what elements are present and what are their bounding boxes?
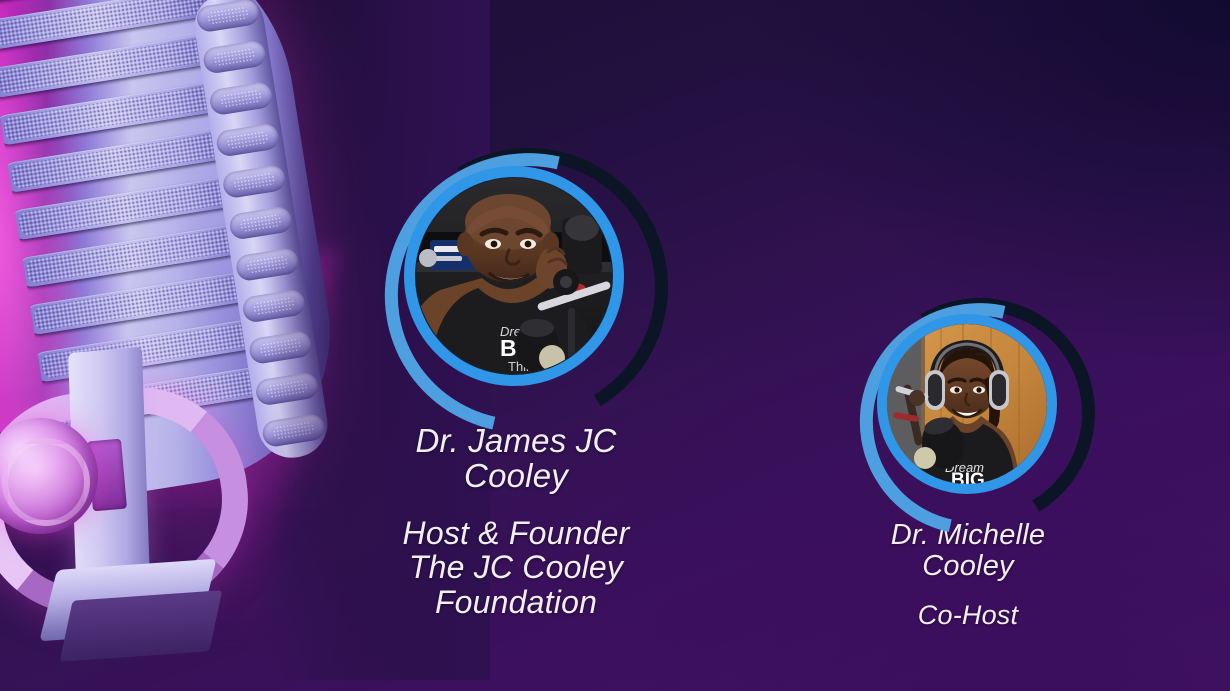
cohost-avatar[interactable]: Dream BIG: [861, 296, 1075, 508]
cohost-role: Co-Host: [800, 601, 1136, 630]
host-avatar[interactable]: Dream BIG Think: [386, 146, 646, 408]
microphone-stem-slot: [87, 439, 127, 512]
cohost-photo: Dream BIG: [887, 324, 1047, 484]
microphone-grille: [0, 0, 319, 511]
microphone-base: [39, 559, 216, 642]
cohost-card: Dream BIG Dr. Michelle Cooley: [800, 296, 1136, 631]
microphone-knob: [0, 418, 98, 534]
host-card: Dream BIG Think: [316, 146, 716, 620]
host-role: Host & Founder The JC Cooley Foundation: [316, 516, 716, 620]
svg-text:BIG: BIG: [951, 470, 985, 484]
host-name: Dr. James JC Cooley: [316, 424, 716, 494]
microphone-shadow: [0, 250, 340, 630]
microphone-stem: [68, 347, 150, 584]
microphone-base-shadow: [60, 590, 223, 662]
microphone-body: [0, 0, 352, 515]
microphone-yoke: [0, 376, 259, 625]
host-photo: Dream BIG Think: [416, 178, 612, 374]
slide-canvas: Dream BIG Think: [0, 0, 1230, 691]
microphone-crown: [76, 0, 354, 18]
microphone-ribs: [190, 0, 333, 463]
